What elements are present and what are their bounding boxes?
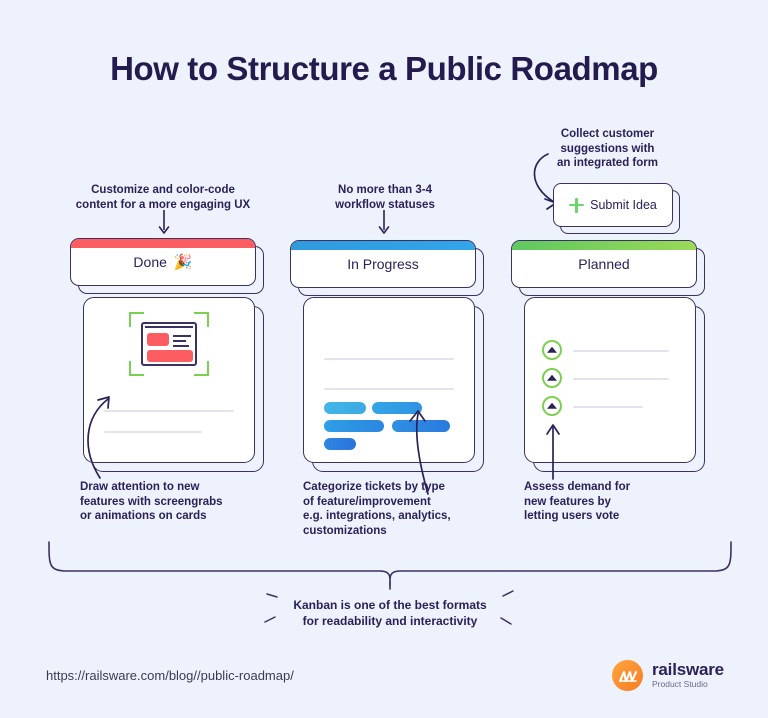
party-popper-icon: 🎉: [174, 253, 193, 271]
tag-pill-5[interactable]: [324, 438, 356, 450]
submit-idea-label: Submit Idea: [590, 198, 657, 212]
railsware-brand-tagline: Product Studio: [652, 679, 724, 690]
annotation-planned-bottom: Assess demand for new features by lettin…: [524, 480, 724, 524]
column-header-in-progress-card[interactable]: In Progress: [290, 240, 476, 288]
annotation-progress-bottom-line2: of feature/improvement: [303, 495, 533, 510]
screengrab-icon: [129, 312, 209, 376]
railsware-mark-icon: [612, 660, 643, 691]
arrow-down-done: [156, 210, 172, 238]
column-accent-bar-in-progress: [291, 241, 475, 250]
railsware-logo[interactable]: railsware Product Studio: [612, 660, 724, 691]
annotation-planned-top-line1: Collect customer: [530, 127, 685, 142]
card-progress-line-2: [324, 388, 454, 390]
screengrab-block-red-2: [147, 350, 193, 362]
capture-corner-bottom-right-icon: [194, 361, 209, 376]
capture-corner-top-right-icon: [194, 312, 209, 327]
annotation-done-top-line1: Customize and color-code: [48, 183, 278, 198]
column-accent-bar-planned: [512, 241, 696, 250]
card-progress-line-1: [324, 358, 454, 360]
annotation-done-bottom-line2: features with screengrabs: [80, 495, 300, 510]
plus-icon: [569, 198, 584, 213]
upvote-arrow-icon-1: [547, 347, 557, 353]
annotation-done-bottom-line3: or animations on cards: [80, 509, 300, 524]
column-label-planned: Planned: [578, 256, 629, 272]
annotation-planned-bottom-line3: letting users vote: [524, 509, 724, 524]
annotation-progress-bottom-line3: e.g. integrations, analytics,: [303, 509, 533, 524]
arrow-up-planned: [543, 415, 573, 483]
annotation-done-bottom-line1: Draw attention to new: [80, 480, 300, 495]
infographic-canvas: How to Structure a Public Roadmap Custom…: [0, 0, 768, 718]
screengrab-header-line: [145, 326, 193, 328]
upvote-button-1[interactable]: [542, 340, 562, 360]
screengrab-text-line-2: [173, 340, 186, 342]
sparkle-tick-1: [267, 594, 277, 597]
tag-pill-1[interactable]: [324, 402, 366, 414]
annotation-done-bottom: Draw attention to new features with scre…: [80, 480, 300, 524]
summary-brace: [40, 538, 730, 590]
column-header-planned-card[interactable]: Planned: [511, 240, 697, 288]
summary-caption-line1: Kanban is one of the best formats: [284, 597, 496, 613]
tag-pill-3[interactable]: [324, 420, 384, 432]
upvote-arrow-icon-2: [547, 375, 557, 381]
upvote-button-3[interactable]: [542, 396, 562, 416]
upvote-button-2[interactable]: [542, 368, 562, 388]
screengrab-text-line-3: [173, 345, 189, 347]
screengrab-block-red-1: [147, 333, 169, 346]
annotation-progress-bottom: Categorize tickets by type of feature/im…: [303, 480, 533, 538]
arrow-curve-done: [78, 372, 148, 482]
column-label-done: Done: [133, 254, 166, 270]
capture-corner-top-left-icon: [129, 312, 144, 327]
screengrab-text-line-1: [173, 335, 191, 337]
summary-caption: Kanban is one of the best formats for re…: [284, 597, 496, 629]
page-title: How to Structure a Public Roadmap: [0, 50, 768, 88]
card-planned-line-2: [573, 378, 669, 380]
submit-idea-button[interactable]: Submit Idea: [553, 183, 673, 227]
annotation-done-top: Customize and color-code content for a m…: [48, 183, 278, 212]
summary-caption-line2: for readability and interactivity: [284, 613, 496, 629]
railsware-brand-name: railsware: [652, 661, 724, 679]
card-planned-line-3: [573, 406, 643, 408]
railsware-zigzag-icon: [619, 670, 637, 682]
annotation-progress-bottom-line1: Categorize tickets by type: [303, 480, 533, 495]
column-label-in-progress: In Progress: [347, 256, 419, 272]
annotation-progress-bottom-line4: customizations: [303, 524, 533, 539]
card-planned-line-1: [573, 350, 669, 352]
sparkle-tick-3: [503, 591, 513, 596]
footer-url[interactable]: https://railsware.com/blog//public-roadm…: [46, 668, 294, 683]
annotation-planned-bottom-line1: Assess demand for: [524, 480, 724, 495]
annotation-progress-top-line1: No more than 3-4: [285, 183, 485, 198]
upvote-arrow-icon-3: [547, 403, 557, 409]
arrow-down-progress: [376, 210, 392, 238]
sparkle-tick-2: [265, 617, 275, 622]
sparkle-tick-4: [501, 618, 511, 624]
column-header-done-card[interactable]: Done 🎉: [70, 238, 256, 286]
column-accent-bar-done: [71, 239, 255, 248]
annotation-planned-bottom-line2: new features by: [524, 495, 724, 510]
annotation-progress-top: No more than 3-4 workflow statuses: [285, 183, 485, 212]
